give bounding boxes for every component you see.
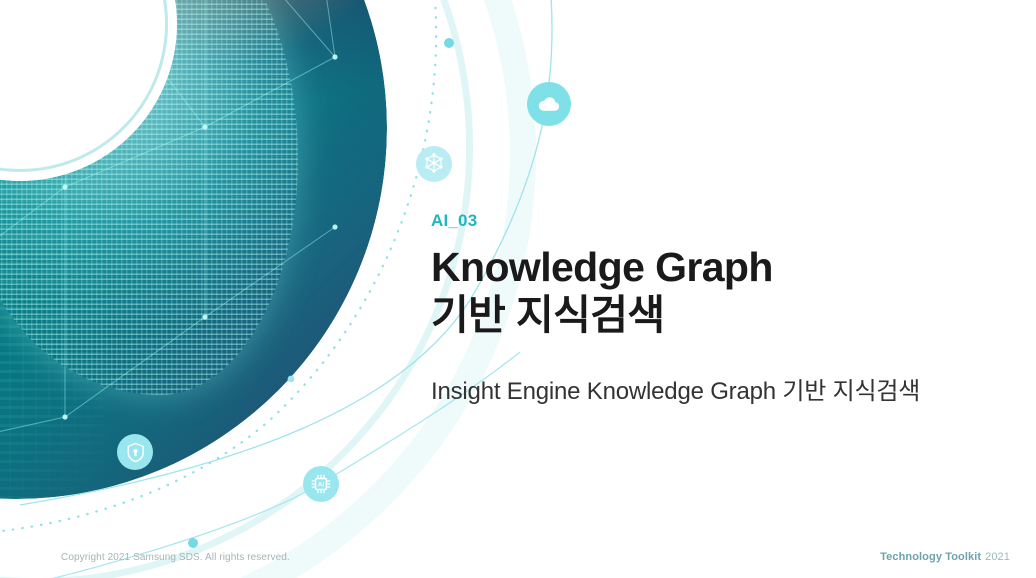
slide-canvas: AI AI_03 Knowledge Graph 기반 지식검색 Insight… bbox=[0, 0, 1036, 578]
footer-brand-year: 2021 bbox=[985, 551, 1010, 563]
page-subtitle: Insight Engine Knowledge Graph 기반 지식검색 bbox=[431, 376, 920, 407]
slide-code-label: AI_03 bbox=[431, 212, 991, 229]
cloud-icon[interactable] bbox=[527, 82, 571, 126]
shield-lock-icon[interactable] bbox=[117, 434, 153, 470]
footer-copyright: Copyright 2021 Samsung SDS. All rights r… bbox=[61, 552, 290, 563]
ai-chip-icon-glyph: AI bbox=[309, 472, 333, 496]
cloud-icon-glyph bbox=[536, 91, 562, 117]
shield-lock-icon-glyph bbox=[124, 441, 147, 464]
network-graph-icon-glyph bbox=[422, 152, 446, 176]
footer-brand: Technology Toolkit2021 bbox=[880, 551, 1010, 563]
footer-brand-name: Technology Toolkit bbox=[880, 551, 981, 563]
network-graph-icon[interactable] bbox=[416, 146, 452, 182]
svg-text:AI: AI bbox=[318, 482, 325, 489]
title-block: AI_03 Knowledge Graph 기반 지식검색 bbox=[431, 212, 991, 340]
page-title: Knowledge Graph 기반 지식검색 bbox=[431, 243, 991, 340]
ai-chip-icon[interactable]: AI bbox=[303, 466, 339, 502]
